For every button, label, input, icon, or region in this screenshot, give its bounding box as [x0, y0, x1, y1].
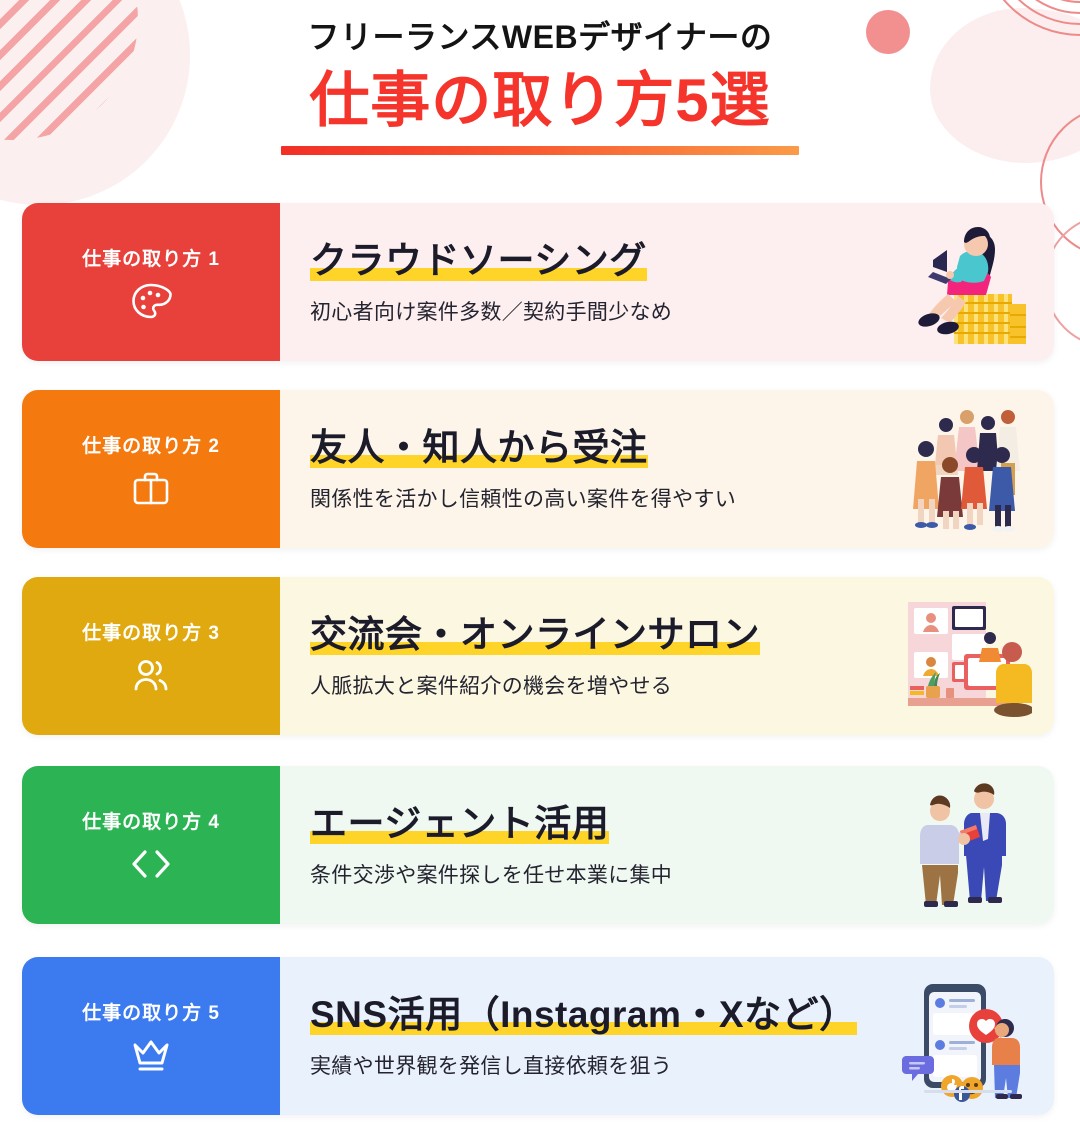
card-1-title: クラウドソーシング	[310, 238, 647, 284]
card-3-badge-panel: 仕事の取り方 3	[22, 577, 280, 735]
card-2-badge-panel: 仕事の取り方 2	[22, 390, 280, 548]
crown-icon	[128, 1035, 174, 1075]
card-4-title: エージェント活用	[310, 801, 609, 847]
card-5-badge-label: 仕事の取り方 5	[82, 998, 220, 1025]
header-subtitle: フリーランスWEBデザイナーの	[0, 18, 1080, 56]
card-1-title-wrap: クラウドソーシング	[310, 238, 647, 284]
header: フリーランスWEBデザイナーの 仕事の取り方5選	[0, 18, 1080, 155]
card-5-title: SNS活用（Instagram・Xなど）	[310, 992, 857, 1038]
card-2-title: 友人・知人から受注	[310, 425, 648, 471]
card-4-badge-panel: 仕事の取り方 4	[22, 766, 280, 924]
palette-icon	[128, 281, 174, 321]
infographic-page: フリーランスWEBデザイナーの 仕事の取り方5選 仕事の取り方 1 クラウドソー…	[0, 0, 1080, 1147]
card-2-body: 友人・知人から受注 関係性を活かし信頼性の高い案件を得やすい	[280, 390, 1054, 548]
card-4-title-wrap: エージェント活用	[310, 801, 609, 847]
card-1-badge-panel: 仕事の取り方 1	[22, 203, 280, 361]
card-3-badge-label: 仕事の取り方 3	[82, 618, 220, 645]
card-5-badge-panel: 仕事の取り方 5	[22, 957, 280, 1115]
page-title: 仕事の取り方5選	[0, 68, 1080, 134]
card-3-body: 交流会・オンラインサロン 人脈拡大と案件紹介の機会を増やせる	[280, 577, 1054, 735]
card-2-title-wrap: 友人・知人から受注	[310, 425, 648, 471]
business-handshake-illustration	[902, 779, 1032, 911]
online-video-meeting-illustration	[902, 590, 1032, 722]
card-2-badge-label: 仕事の取り方 2	[82, 431, 220, 458]
method-card-2[interactable]: 仕事の取り方 2 友人・知人から受注 関係性を活かし信頼性の高い案件を得やすい	[22, 390, 1054, 548]
card-4-badge-label: 仕事の取り方 4	[82, 807, 220, 834]
briefcase-icon	[128, 468, 174, 508]
card-3-title-wrap: 交流会・オンラインサロン	[310, 612, 760, 658]
card-5-body: SNS活用（Instagram・Xなど） 実績や世界観を発信し直接依頼を狙う	[280, 957, 1054, 1115]
card-1-body: クラウドソーシング 初心者向け案件多数／契約手間少なめ	[280, 203, 1054, 361]
card-5-title-wrap: SNS活用（Instagram・Xなど）	[310, 992, 857, 1038]
card-1-badge-label: 仕事の取り方 1	[82, 244, 220, 271]
card-3-title: 交流会・オンラインサロン	[310, 612, 760, 658]
group-of-people-illustration	[902, 403, 1032, 535]
method-card-4[interactable]: 仕事の取り方 4 エージェント活用 条件交渉や案件探しを任せ本業に集中	[22, 766, 1054, 924]
method-card-5[interactable]: 仕事の取り方 5 SNS活用（Instagram・Xなど） 実績や世界観を発信し…	[22, 957, 1054, 1115]
title-underline	[281, 146, 799, 155]
method-card-3[interactable]: 仕事の取り方 3 交流会・オンラインサロン 人脈拡大と案件紹介の機会を増やせる	[22, 577, 1054, 735]
users-icon	[128, 655, 174, 695]
woman-with-laptop-on-coins-illustration	[902, 216, 1032, 348]
card-4-body: エージェント活用 条件交渉や案件探しを任せ本業に集中	[280, 766, 1054, 924]
code-brackets-icon	[128, 844, 174, 884]
method-card-1[interactable]: 仕事の取り方 1 クラウドソーシング 初心者向け案件多数／契約手間少なめ	[22, 203, 1054, 361]
smartphone-social-feed-illustration	[902, 970, 1032, 1102]
